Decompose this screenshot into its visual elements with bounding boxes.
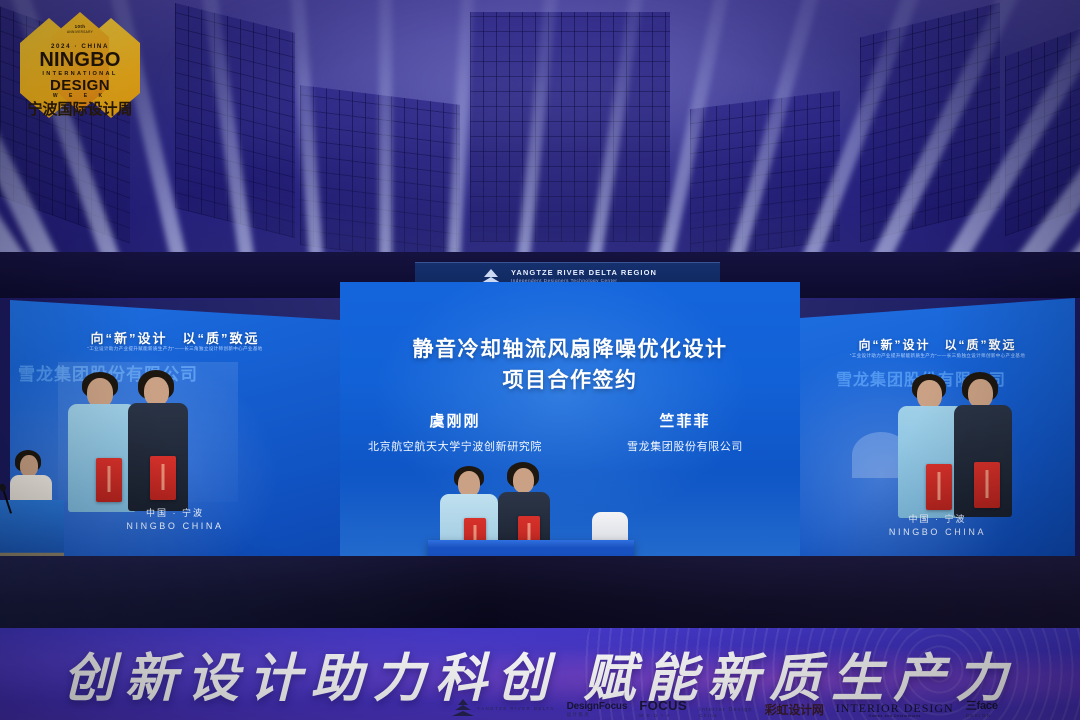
moving-head-light <box>986 262 1012 302</box>
led-screen-center: 静音冷却轴流风扇降噪优化设计 项目合作签约 虞刚刚 北京航空航天大学宁波创新研究… <box>340 282 800 562</box>
moving-head-light-floor <box>325 524 360 578</box>
header-line-1: YANGTZE RIVER DELTA REGION <box>511 269 657 278</box>
sponsor-name: DesignFocus <box>567 701 628 712</box>
signatory-org: 雪龙集团股份有限公司 <box>570 438 800 454</box>
logo-city: NINGBO <box>18 50 142 71</box>
center-title-line-2: 项目合作签约 <box>340 365 800 396</box>
moving-head-light <box>68 256 94 296</box>
moving-head-light <box>284 256 310 296</box>
sponsor-sub: 设计焦点 <box>567 712 628 718</box>
center-screen-title: 静音冷却轴流风扇降噪优化设计 项目合作签约 <box>340 334 800 396</box>
signatory-list: 虞刚刚 北京航空航天大学宁波创新研究院 竺菲菲 雪龙集团股份有限公司 <box>340 410 800 454</box>
sponsor-logo: YANGTZE RIVER DELTA <box>452 698 555 718</box>
signatory-name: 虞刚刚 <box>340 410 570 431</box>
side-screen-headline: 向“新”设计 以“质”致远 <box>10 328 340 347</box>
logo-text-block: 10th ANNIVERSARY 2024 · CHINA NINGBO INT… <box>18 12 142 124</box>
sponsor-name: 三face <box>966 697 998 713</box>
moving-head-light <box>824 256 850 296</box>
bottom-banner: 创新设计助力科创 赋能新质生产力 YANGTZE RIVER DELTA Des… <box>0 628 1080 720</box>
sponsor-sub: YANGTZE RIVER DELTA <box>477 706 555 711</box>
sponsor-logo: FOCUS M E D I A <box>639 698 687 718</box>
ceiling-coffer <box>175 3 295 238</box>
side-screen-subline: “工业设计助力产业提升赋能新质生产力”——长三角独立设计师创新中心产业基地 <box>800 353 1075 359</box>
moving-head-light <box>230 262 256 302</box>
sponsor-name: 彩虹设计网 <box>765 701 824 718</box>
sponsor-logo: Interior Design China <box>699 707 753 718</box>
stage-floor-reflection <box>0 556 1080 628</box>
sponsor-logo: 彩虹设计网 <box>765 701 824 718</box>
ceiling-coffer <box>860 3 1000 243</box>
moving-head-light-floor <box>755 524 790 578</box>
sponsor-logo: INTERIOR DESIGN Homes and Destinations <box>836 703 954 718</box>
event-logo: 10th ANNIVERSARY 2024 · CHINA NINGBO INT… <box>18 12 142 124</box>
ceiling-coffer <box>300 85 460 265</box>
signatory-entry: 虞刚刚 北京航空航天大学宁波创新研究院 <box>340 410 570 454</box>
logo-anniversary-sub: ANNIVERSARY <box>18 30 142 34</box>
moving-head-light-floor <box>595 524 630 578</box>
logo-anniversary: 10th <box>18 24 142 29</box>
signatory-org: 北京航空航天大学宁波创新研究院 <box>340 438 570 454</box>
logo-chinese: 宁波国际设计周 <box>18 98 142 119</box>
center-title-line-1: 静音冷却轴流风扇降噪优化设计 <box>340 334 800 365</box>
sponsor-sub: China <box>699 713 753 718</box>
sponsor-sub: DESIGN <box>966 713 998 718</box>
sponsor-name: FOCUS <box>639 698 687 713</box>
moving-head-light-floor <box>245 524 280 578</box>
moving-head-light <box>1040 256 1066 296</box>
moving-head-light-floor <box>163 524 198 578</box>
ceiling-coffer <box>470 12 670 242</box>
sponsor-logo: DesignFocus 设计焦点 <box>567 701 628 718</box>
moving-head-light-floor <box>843 524 878 578</box>
side-screen-headline: 向“新”设计 以“质”致远 <box>800 336 1075 353</box>
sponsor-logo-strip: YANGTZE RIVER DELTA DesignFocus 设计焦点 FOC… <box>452 674 1080 718</box>
moving-head-light <box>122 262 148 302</box>
sponsor-name: INTERIOR DESIGN <box>836 703 954 714</box>
sponsor-sub: M E D I A <box>639 713 687 718</box>
logo-design: DESIGN <box>18 78 142 94</box>
moving-head-light-floor <box>1005 524 1040 578</box>
led-screen-right: 向“新”设计 以“质”致远 “工业设计助力产业提升赋能新质生产力”——长三角独立… <box>800 298 1075 562</box>
ceiling-coffer <box>690 91 840 259</box>
stage-photo: 向“新”设计 以“质”致远 “工业设计助力产业提升赋能新质生产力”——长三角独立… <box>0 0 1080 720</box>
moving-head-light <box>14 262 40 302</box>
moving-head-light-floor <box>55 524 90 578</box>
side-screen-subline: “工业设计助力产业提升赋能新质生产力”——长三角独立设计师创新中心产业基地 <box>10 346 340 352</box>
triangle-stack-icon <box>452 698 474 718</box>
ceiling-coffer <box>1005 24 1080 237</box>
moving-head-light-floor <box>925 524 960 578</box>
signatory-name: 竺菲菲 <box>570 410 800 431</box>
sponsor-logo: 三face DESIGN <box>966 697 998 718</box>
moving-head-light <box>878 262 904 302</box>
signatory-entry: 竺菲菲 雪龙集团股份有限公司 <box>570 410 800 454</box>
moving-head-light <box>932 256 958 296</box>
moving-head-light <box>176 256 202 296</box>
